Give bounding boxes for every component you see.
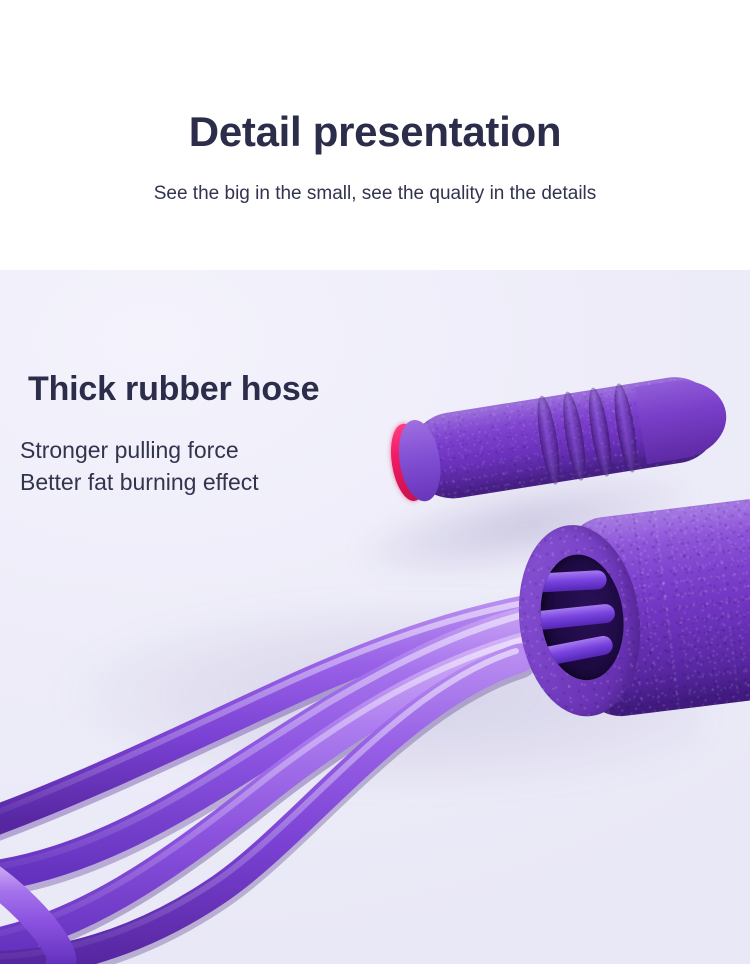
product-photo-panel: Thick rubber hose Stronger pulling force…	[0, 270, 750, 964]
bore-tube	[534, 570, 607, 593]
feature-heading: Thick rubber hose	[28, 370, 319, 409]
benefit-line-2: Better fat burning effect	[20, 467, 259, 499]
benefit-line-1: Stronger pulling force	[20, 435, 259, 467]
bore-tube	[534, 634, 614, 668]
header-band: Detail presentation See the big in the s…	[0, 0, 750, 270]
feature-benefit-list: Stronger pulling force Better fat burnin…	[20, 435, 259, 498]
product-detail-page: Detail presentation See the big in the s…	[0, 0, 750, 964]
bore-tube	[534, 603, 616, 631]
page-subtitle: See the big in the small, see the qualit…	[0, 182, 750, 207]
page-title: Detail presentation	[0, 108, 750, 155]
front-foam-grip	[508, 492, 750, 727]
